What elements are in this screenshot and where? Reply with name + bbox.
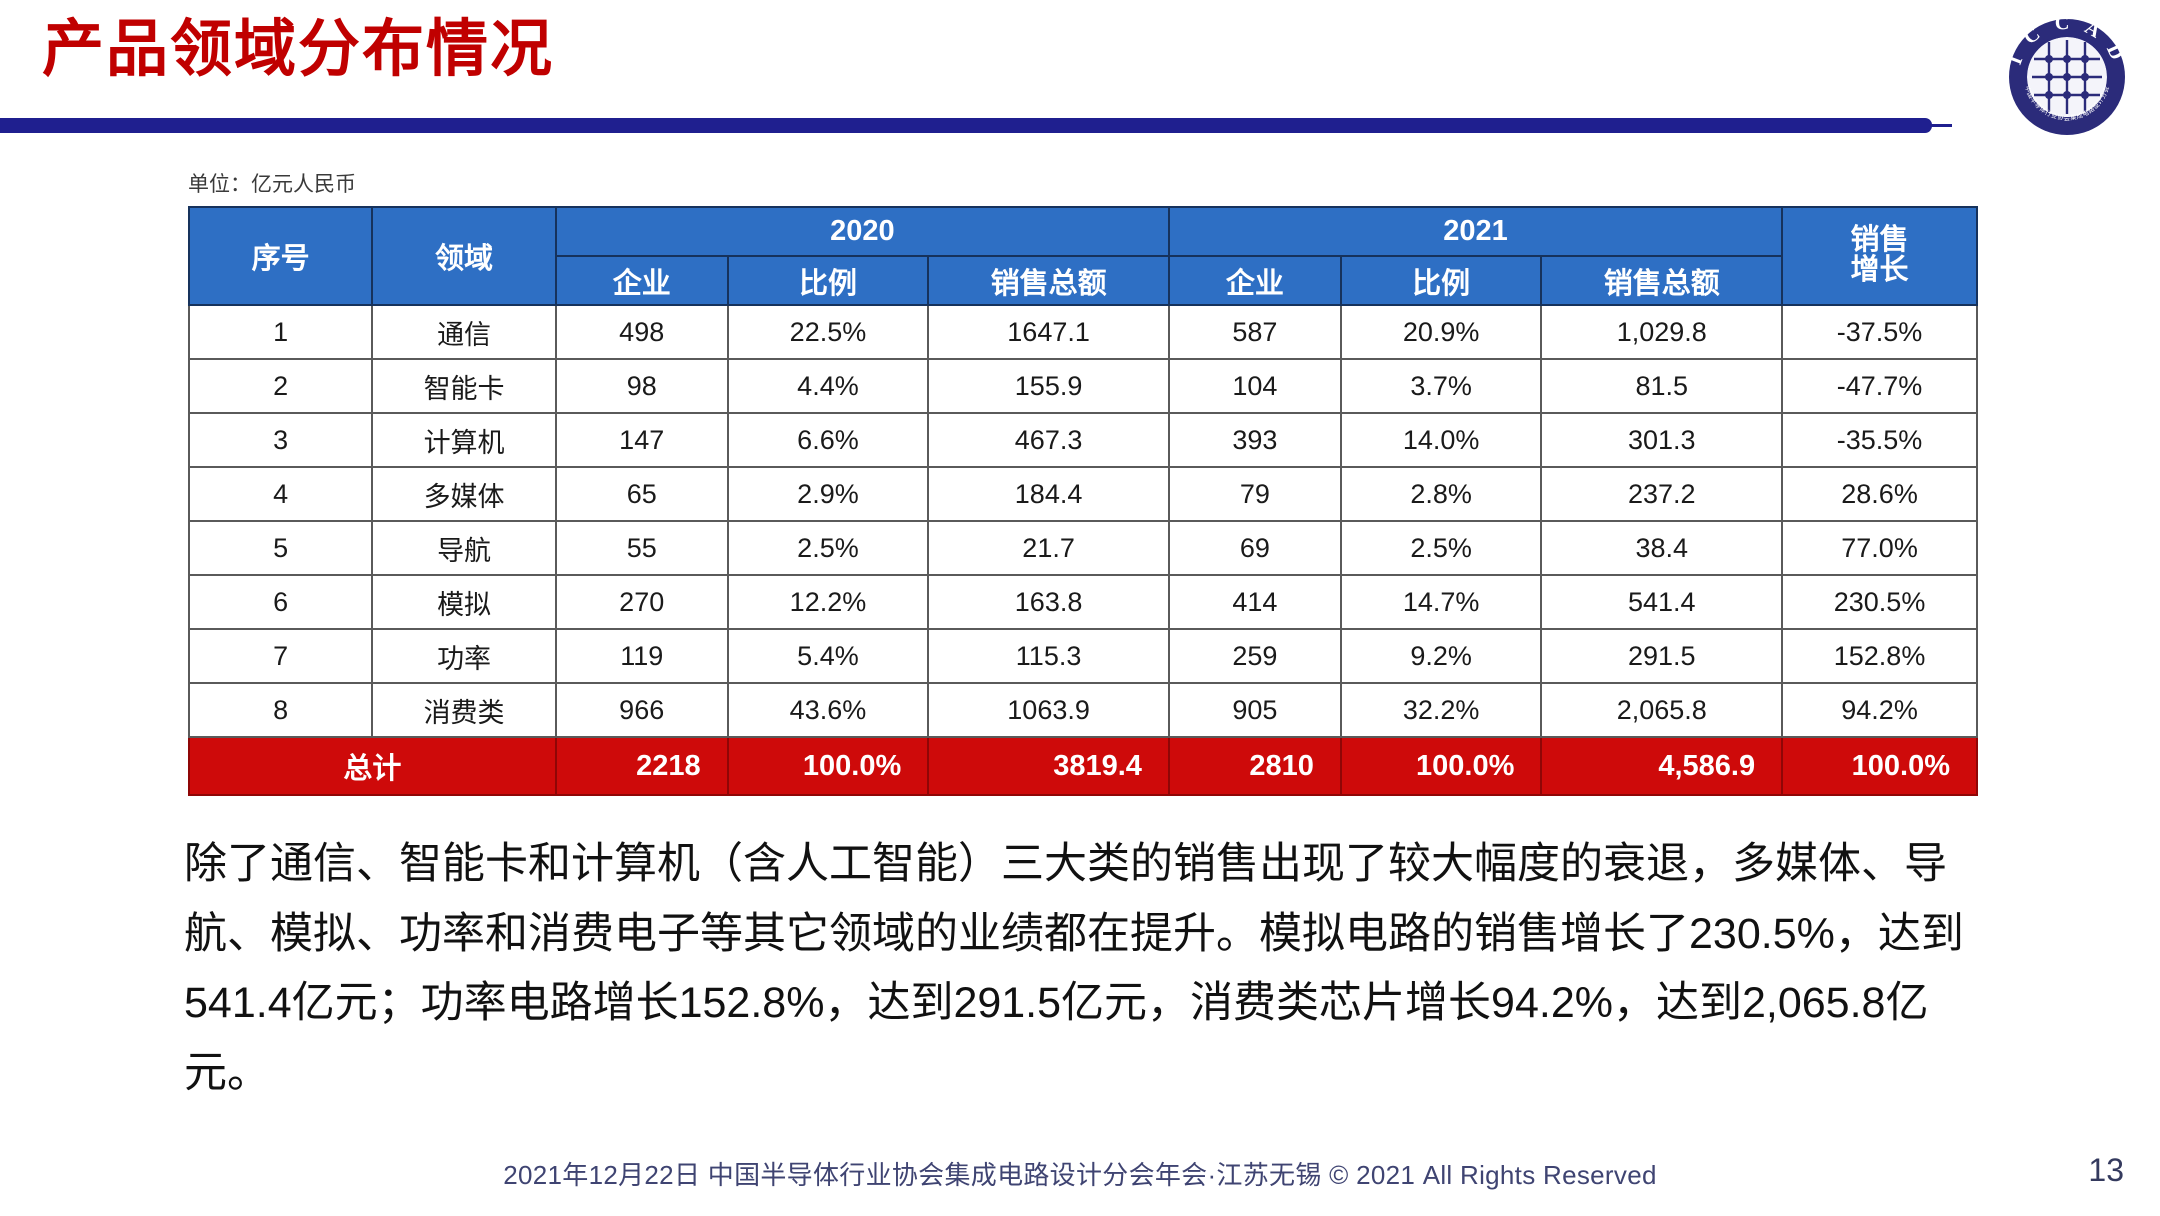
cell-2021-company: 587 [1169, 305, 1341, 359]
cell-2020-ratio: 5.4% [728, 629, 929, 683]
cell-2020-sales: 467.3 [928, 413, 1169, 467]
cell-2020-ratio: 22.5% [728, 305, 929, 359]
cell-2020-ratio: 12.2% [728, 575, 929, 629]
cell-2021-company: 393 [1169, 413, 1341, 467]
header-2020-company: 企业 [556, 256, 728, 305]
table-header-row-1: 序号 领域 2020 2021 销售 增长 [189, 207, 1977, 256]
cell-2021-ratio: 14.7% [1341, 575, 1542, 629]
table-row: 5 导航 55 2.5% 21.7 69 2.5% 38.4 77.0% [189, 521, 1977, 575]
header-growth-line1: 销售 [1783, 226, 1976, 256]
cell-2021-sales: 81.5 [1541, 359, 1782, 413]
cell-2020-sales: 115.3 [928, 629, 1169, 683]
cell-2021-ratio: 3.7% [1341, 359, 1542, 413]
cell-2021-ratio: 20.9% [1341, 305, 1542, 359]
header-growth-line2: 增长 [1783, 256, 1976, 286]
cell-field: 导航 [372, 521, 555, 575]
cell-growth: 152.8% [1782, 629, 1977, 683]
table-row: 4 多媒体 65 2.9% 184.4 79 2.8% 237.2 28.6% [189, 467, 1977, 521]
unit-label: 单位：亿元人民币 [188, 168, 356, 198]
cell-2020-sales: 163.8 [928, 575, 1169, 629]
page-title: 产品领域分布情况 [42, 14, 554, 85]
slide-header: 产品领域分布情况 [0, 0, 2160, 150]
cell-index: 2 [189, 359, 372, 413]
cell-growth: 230.5% [1782, 575, 1977, 629]
total-2021-sales: 4,586.9 [1541, 737, 1782, 795]
cell-field: 模拟 [372, 575, 555, 629]
cell-2021-ratio: 9.2% [1341, 629, 1542, 683]
header-group-2021: 2021 [1169, 207, 1782, 256]
table-row: 6 模拟 270 12.2% 163.8 414 14.7% 541.4 230… [189, 575, 1977, 629]
cell-2021-company: 69 [1169, 521, 1341, 575]
cell-growth: -47.7% [1782, 359, 1977, 413]
cell-field: 多媒体 [372, 467, 555, 521]
cell-2020-ratio: 6.6% [728, 413, 929, 467]
cell-2021-company: 259 [1169, 629, 1341, 683]
cell-2020-sales: 21.7 [928, 521, 1169, 575]
cell-2020-ratio: 2.5% [728, 521, 929, 575]
cell-2021-sales: 291.5 [1541, 629, 1782, 683]
cell-2020-company: 98 [556, 359, 728, 413]
cell-2021-ratio: 32.2% [1341, 683, 1542, 737]
cell-2021-sales: 237.2 [1541, 467, 1782, 521]
cell-2021-ratio: 14.0% [1341, 413, 1542, 467]
table-row: 1 通信 498 22.5% 1647.1 587 20.9% 1,029.8 … [189, 305, 1977, 359]
cell-2020-ratio: 43.6% [728, 683, 929, 737]
body-paragraph: 除了通信、智能卡和计算机（含人工智能）三大类的销售出现了较大幅度的衰退，多媒体、… [184, 830, 1984, 1109]
cell-2021-sales: 38.4 [1541, 521, 1782, 575]
header-2020-ratio: 比例 [728, 256, 929, 305]
cell-field: 通信 [372, 305, 555, 359]
cell-2020-company: 65 [556, 467, 728, 521]
cell-2020-company: 119 [556, 629, 728, 683]
cell-2020-sales: 184.4 [928, 467, 1169, 521]
cell-growth: -37.5% [1782, 305, 1977, 359]
header-field: 领域 [372, 207, 555, 305]
table-row: 2 智能卡 98 4.4% 155.9 104 3.7% 81.5 -47.7% [189, 359, 1977, 413]
cell-2021-ratio: 2.5% [1341, 521, 1542, 575]
cell-2020-company: 966 [556, 683, 728, 737]
cell-index: 8 [189, 683, 372, 737]
cell-2020-company: 55 [556, 521, 728, 575]
total-label: 总计 [189, 737, 556, 795]
cell-2021-sales: 2,065.8 [1541, 683, 1782, 737]
cell-index: 4 [189, 467, 372, 521]
cell-field: 功率 [372, 629, 555, 683]
total-growth: 100.0% [1782, 737, 1977, 795]
total-2020-ratio: 100.0% [728, 737, 929, 795]
cell-index: 5 [189, 521, 372, 575]
cell-2021-company: 79 [1169, 467, 1341, 521]
cell-2020-company: 147 [556, 413, 728, 467]
header-group-2020: 2020 [556, 207, 1169, 256]
header-growth: 销售 增长 [1782, 207, 1977, 305]
table-row: 3 计算机 147 6.6% 467.3 393 14.0% 301.3 -35… [189, 413, 1977, 467]
total-2020-sales: 3819.4 [928, 737, 1169, 795]
total-2021-company: 2810 [1169, 737, 1341, 795]
cell-index: 6 [189, 575, 372, 629]
cell-field: 消费类 [372, 683, 555, 737]
table-body: 1 通信 498 22.5% 1647.1 587 20.9% 1,029.8 … [189, 305, 1977, 795]
cell-2021-ratio: 2.8% [1341, 467, 1542, 521]
product-field-table: 序号 领域 2020 2021 销售 增长 企业 比例 销售总额 企业 比例 销… [188, 206, 1978, 796]
cell-growth: -35.5% [1782, 413, 1977, 467]
cell-growth: 94.2% [1782, 683, 1977, 737]
total-2021-ratio: 100.0% [1341, 737, 1542, 795]
cell-2020-ratio: 4.4% [728, 359, 929, 413]
total-2020-company: 2218 [556, 737, 728, 795]
cell-2020-company: 498 [556, 305, 728, 359]
cell-index: 1 [189, 305, 372, 359]
title-underline-bar [0, 118, 1932, 133]
cell-field: 智能卡 [372, 359, 555, 413]
cell-2021-company: 104 [1169, 359, 1341, 413]
cell-index: 3 [189, 413, 372, 467]
cell-2020-sales: 1647.1 [928, 305, 1169, 359]
cell-2021-sales: 541.4 [1541, 575, 1782, 629]
header-2021-company: 企业 [1169, 256, 1341, 305]
table-total-row: 总计 2218 100.0% 3819.4 2810 100.0% 4,586.… [189, 737, 1977, 795]
cell-growth: 77.0% [1782, 521, 1977, 575]
table-row: 8 消费类 966 43.6% 1063.9 905 32.2% 2,065.8… [189, 683, 1977, 737]
table-row: 7 功率 119 5.4% 115.3 259 9.2% 291.5 152.8… [189, 629, 1977, 683]
cell-2020-company: 270 [556, 575, 728, 629]
iccad-logo: I C C A D 中国半导体行业协会集成电路设计分会 [1996, 6, 2138, 148]
cell-index: 7 [189, 629, 372, 683]
header-2020-sales: 销售总额 [928, 256, 1169, 305]
cell-2021-company: 905 [1169, 683, 1341, 737]
footer-text: 2021年12月22日 中国半导体行业协会集成电路设计分会年会·江苏无锡 © 2… [0, 1155, 2160, 1192]
cell-2020-ratio: 2.9% [728, 467, 929, 521]
header-index: 序号 [189, 207, 372, 305]
cell-2020-sales: 155.9 [928, 359, 1169, 413]
cell-2021-sales: 1,029.8 [1541, 305, 1782, 359]
cell-field: 计算机 [372, 413, 555, 467]
cell-2020-sales: 1063.9 [928, 683, 1169, 737]
cell-2021-sales: 301.3 [1541, 413, 1782, 467]
cell-2021-company: 414 [1169, 575, 1341, 629]
cell-growth: 28.6% [1782, 467, 1977, 521]
page-number: 13 [2088, 1152, 2124, 1189]
title-underline-tail [1930, 124, 1952, 127]
header-2021-ratio: 比例 [1341, 256, 1542, 305]
header-2021-sales: 销售总额 [1541, 256, 1782, 305]
